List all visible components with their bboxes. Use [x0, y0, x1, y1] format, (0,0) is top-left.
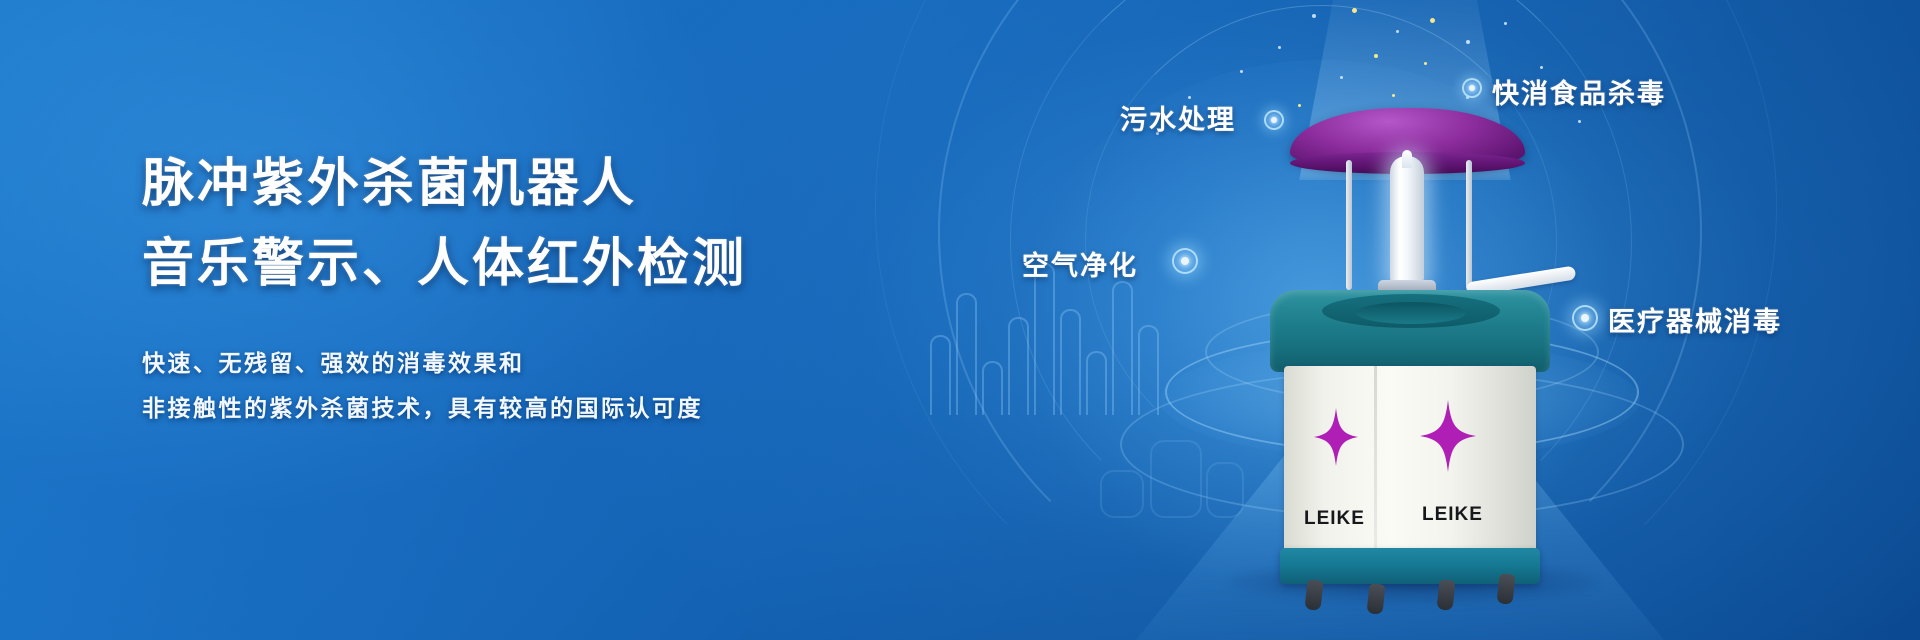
sparkle: [1278, 46, 1281, 49]
sparkle: [1424, 62, 1427, 65]
tech-outline-3: [1100, 470, 1144, 518]
tech-outline-2: [1206, 462, 1244, 518]
sparkle: [1578, 120, 1581, 123]
body-corner-edge: [1374, 366, 1377, 556]
sparkle: [1312, 14, 1316, 18]
node-dot-icon-food: [1462, 78, 1482, 98]
callout-label-medical: 医疗器械消毒: [1608, 300, 1782, 339]
uv-lamp-icon: [1390, 156, 1424, 284]
sparkle: [1466, 40, 1470, 44]
headline-line-1: 脉冲紫外杀菌机器人: [142, 150, 747, 220]
caster-wheel-icon: [1304, 579, 1323, 611]
headline-line-2: 音乐警示、人体红外检测: [142, 230, 747, 300]
sparkle: [1540, 66, 1543, 69]
sparkle: [1396, 30, 1399, 33]
support-rod-left: [1346, 160, 1352, 290]
caster-wheel-icon: [1436, 579, 1455, 611]
callout-label-food: 快消食品杀毒: [1492, 72, 1666, 111]
sparkle: [1340, 76, 1343, 79]
sparkle: [1352, 8, 1357, 13]
star-logo-icon: [1420, 400, 1476, 472]
callout-label-sewage: 污水处理: [1120, 98, 1236, 137]
top-cabinet-port: [1356, 302, 1466, 324]
brand-label-left: LEIKE: [1304, 508, 1365, 530]
tech-outline-1: [1150, 440, 1202, 518]
node-dot-icon-medical: [1572, 305, 1598, 331]
support-rod-right: [1466, 160, 1472, 290]
sparkle: [1392, 94, 1395, 97]
sparkle: [1240, 70, 1243, 73]
node-dot-icon-sewage: [1264, 110, 1284, 130]
sparkle: [1504, 22, 1507, 25]
subtitle-line-2: 非接触性的紫外杀菌技术，具有较高的国际认可度: [142, 387, 747, 432]
subtitle-line-1: 快速、无残留、强效的消毒效果和: [142, 342, 747, 387]
callout-label-air: 空气净化: [1022, 244, 1138, 283]
sparkle: [1298, 104, 1301, 107]
subtitle-block: 快速、无残留、强效的消毒效果和 非接触性的紫外杀菌技术，具有较高的国际认可度: [142, 342, 747, 432]
uv-disinfection-robot: LEIKE LEIKE: [1270, 108, 1550, 588]
caster-wheel-icon: [1366, 583, 1385, 615]
sparkle: [1374, 54, 1378, 58]
hero-copy-block: 脉冲紫外杀菌机器人 音乐警示、人体红外检测 快速、无残留、强效的消毒效果和 非接…: [142, 150, 747, 432]
star-logo-icon: [1314, 408, 1358, 466]
brand-label-right: LEIKE: [1422, 504, 1483, 526]
hero-banner: 脉冲紫外杀菌机器人 音乐警示、人体红外检测 快速、无残留、强效的消毒效果和 非接…: [0, 0, 1920, 640]
node-dot-icon-air: [1172, 248, 1198, 274]
sparkle: [1430, 18, 1435, 23]
